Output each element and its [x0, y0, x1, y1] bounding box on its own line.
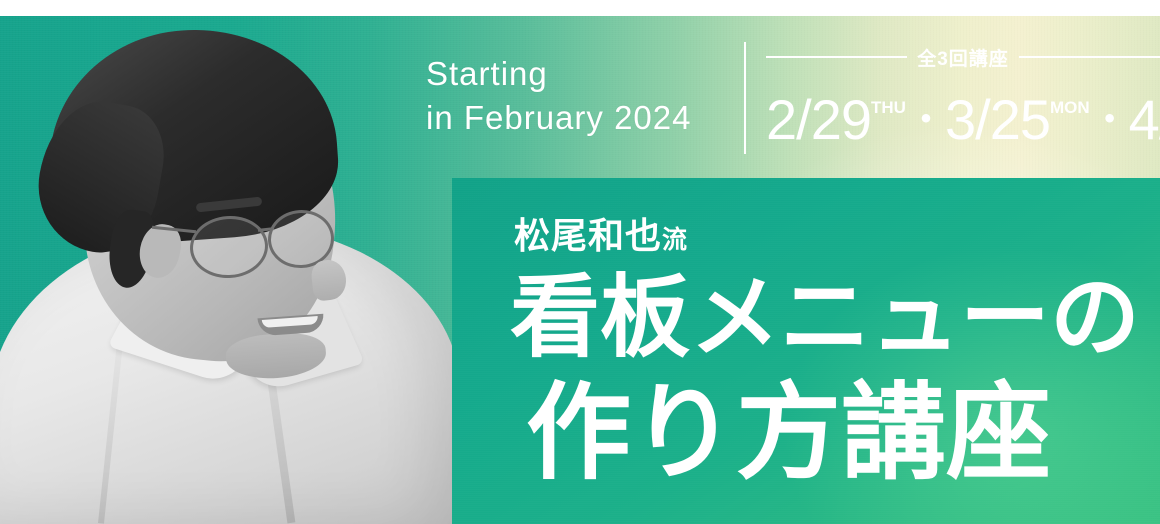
sessions-label: 全3回講座 — [907, 44, 1019, 71]
starting-heading: Starting in February 2024 — [426, 52, 691, 140]
presenter-name: 松尾和也流 — [514, 216, 688, 260]
date-2-day: 25 — [990, 88, 1050, 151]
sessions-rule-left — [766, 56, 907, 58]
starting-line-2: in February 2024 — [426, 96, 691, 140]
title-line-1: 看板メニューの — [510, 270, 1140, 366]
date-1-month: 2 — [766, 88, 796, 151]
presenter-name-suffix: 流 — [662, 226, 688, 254]
date-2-slash: / — [975, 88, 990, 151]
date-separator-2: ・ — [1090, 98, 1129, 142]
title-line-2: 作り方講座 — [526, 378, 1051, 490]
date-2-month: 3 — [945, 88, 975, 151]
sessions-row: 全3回講座 — [766, 44, 1160, 70]
presenter-portrait — [0, 10, 460, 524]
starting-line-1: Starting — [426, 55, 548, 92]
promo-banner: Starting in February 2024 全3回講座 2/29THU・… — [0, 0, 1160, 524]
presenter-name-text: 松尾和也 — [514, 215, 662, 256]
dates-line: 2/29THU・3/25MON・4/2 — [766, 70, 1160, 158]
date-separator-1: ・ — [906, 98, 945, 142]
vertical-divider — [744, 42, 746, 154]
sessions-rule-right — [1019, 56, 1160, 58]
date-3-month: 4 — [1129, 88, 1159, 151]
date-1-day: 29 — [811, 88, 871, 151]
title-panel: 松尾和也流 看板メニューの 作り方講座 — [452, 178, 1160, 524]
date-1-slash: / — [796, 88, 811, 151]
date-block: 全3回講座 2/29THU・3/25MON・4/2 — [766, 44, 1160, 156]
date-2-weekday: MON — [1050, 98, 1090, 117]
date-1-weekday: THU — [871, 98, 906, 117]
